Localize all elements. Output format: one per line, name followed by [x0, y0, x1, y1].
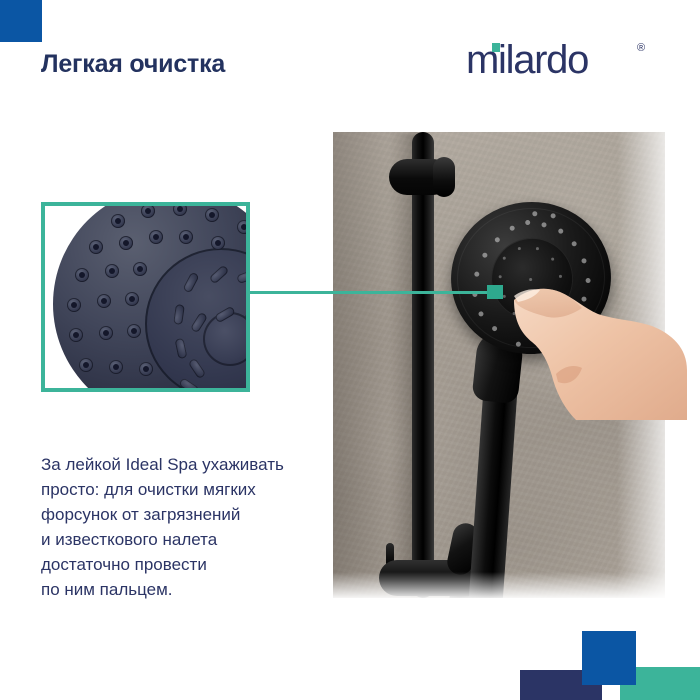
photo-bottom-fade [333, 572, 665, 598]
detail-zoom-inset [41, 202, 250, 392]
detail-center-plug [203, 312, 250, 366]
detail-sprayface [53, 202, 250, 392]
page-title: Легкая очистка [41, 50, 225, 79]
product-photo [333, 132, 665, 598]
shower-riser-bar [412, 132, 434, 598]
zoom-target-marker-icon [487, 285, 503, 299]
corner-accent-top-left [0, 0, 42, 42]
body-text: За лейкой Ideal Spa ухаживать просто: дл… [41, 452, 331, 602]
brand-logo-i-dot-icon [492, 43, 500, 52]
handset-spray-face [443, 194, 618, 362]
brand-logo: milardo ® [466, 38, 656, 82]
top-bracket-cap [433, 157, 455, 197]
corner-accent-bottom-blue [582, 631, 636, 685]
brand-logo-wordmark: milardo [466, 38, 588, 82]
detail-zoom-image [41, 202, 250, 392]
registered-trademark-icon: ® [637, 42, 645, 54]
slide-root: Легкая очистка milardo ® [0, 0, 700, 700]
zoom-connector-line [250, 291, 490, 294]
hand-shower-handset [451, 202, 631, 562]
